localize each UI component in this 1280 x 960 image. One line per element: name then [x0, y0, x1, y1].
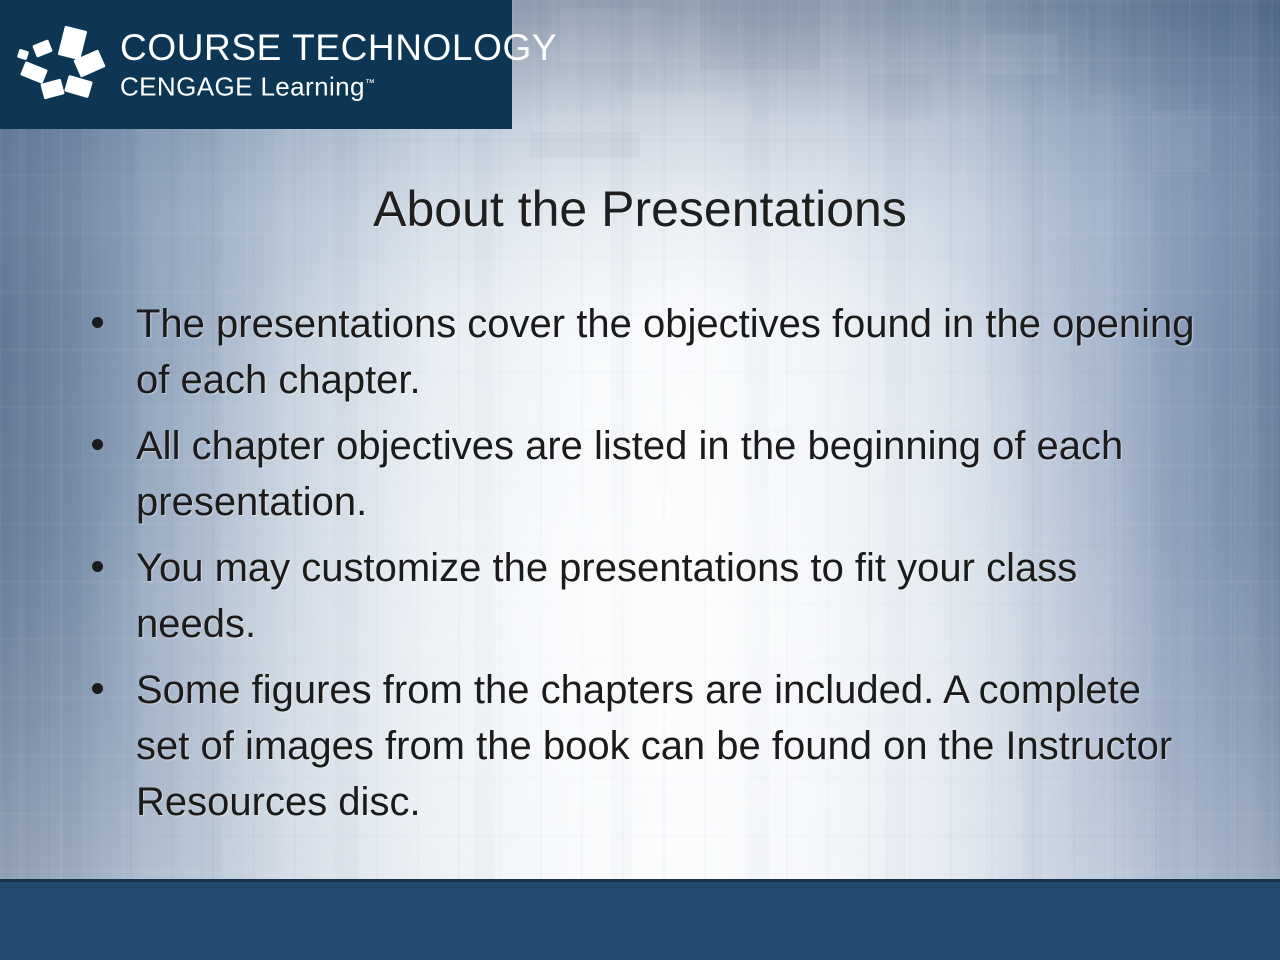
logo-cengage-learning-text: CENGAGE Learning: [120, 71, 365, 101]
page-title: About the Presentations: [0, 178, 1280, 240]
logo-wordmark: COURSE TECHNOLOGY CENGAGE Learning™: [120, 28, 557, 102]
list-item: You may customize the presentations to f…: [86, 540, 1196, 652]
list-item-text: Some figures from the chapters are inclu…: [136, 668, 1172, 824]
bullet-point-icon: [92, 561, 103, 572]
bullet-point-icon: [92, 683, 103, 694]
list-item-text: The presentations cover the objectives f…: [136, 302, 1194, 402]
cengage-pinwheel-icon: [16, 23, 108, 107]
list-item: All chapter objectives are listed in the…: [86, 418, 1196, 530]
list-item: Some figures from the chapters are inclu…: [86, 662, 1196, 830]
list-item: The presentations cover the objectives f…: [86, 296, 1196, 408]
course-technology-logo-banner: COURSE TECHNOLOGY CENGAGE Learning™: [0, 0, 512, 129]
list-item-text: All chapter objectives are listed in the…: [136, 424, 1123, 524]
bullet-point-icon: [92, 317, 103, 328]
list-item-text: You may customize the presentations to f…: [136, 546, 1077, 646]
footer-bar: [0, 882, 1280, 960]
logo-course-technology: COURSE TECHNOLOGY: [120, 28, 557, 68]
logo-cengage-learning: CENGAGE Learning™: [120, 69, 557, 102]
trademark-icon: ™: [365, 78, 375, 89]
bullet-point-icon: [92, 439, 103, 450]
presentation-slide: COURSE TECHNOLOGY CENGAGE Learning™ Abou…: [0, 0, 1280, 960]
bullet-list: The presentations cover the objectives f…: [86, 296, 1196, 830]
